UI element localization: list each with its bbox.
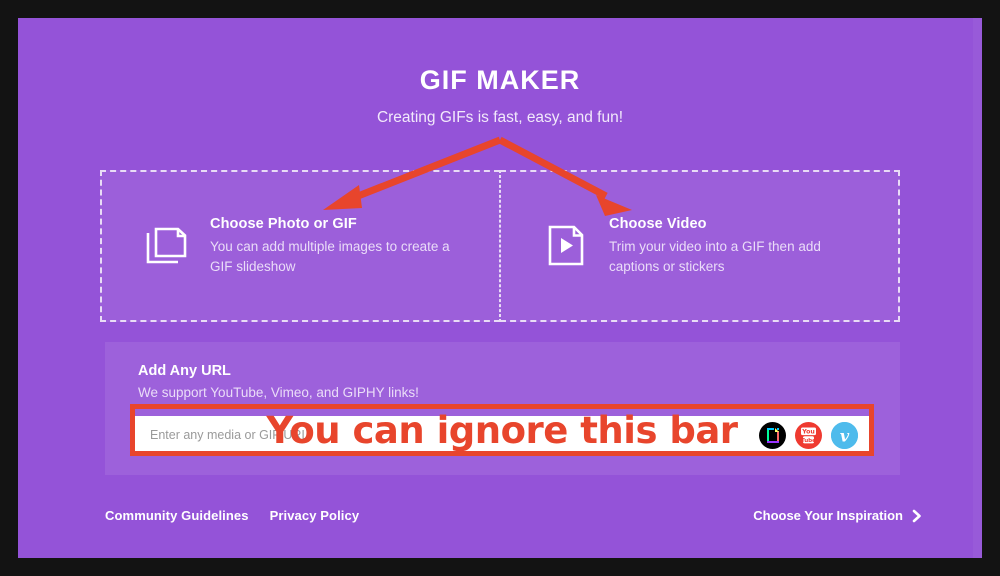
footer-links: Community Guidelines Privacy Policy [105, 508, 359, 523]
add-any-url-subtitle: We support YouTube, Vimeo, and GIPHY lin… [138, 385, 419, 400]
add-any-url-title: Add Any URL [138, 363, 231, 379]
page-subtitle: Creating GIFs is fast, easy, and fun! [18, 109, 982, 127]
choose-video-text: Choose Video Trim your video into a GIF … [609, 216, 873, 275]
community-guidelines-link[interactable]: Community Guidelines [105, 508, 249, 523]
choose-video-card[interactable]: Choose Video Trim your video into a GIF … [500, 170, 900, 322]
page-footer: Community Guidelines Privacy Policy Choo… [18, 502, 982, 542]
page-title: GIF MAKER [18, 66, 982, 96]
stacked-photos-icon [144, 224, 192, 268]
page-header: GIF MAKER Creating GIFs is fast, easy, a… [18, 66, 982, 127]
choose-your-inspiration-label: Choose Your Inspiration [753, 508, 903, 523]
screenshot-root: GIF MAKER Creating GIFs is fast, easy, a… [0, 0, 1000, 576]
choose-photo-text: Choose Photo or GIF You can add multiple… [210, 216, 474, 275]
privacy-policy-link[interactable]: Privacy Policy [270, 508, 360, 523]
choose-your-inspiration-button[interactable]: Choose Your Inspiration [753, 508, 922, 523]
choose-video-title: Choose Video [609, 216, 859, 232]
video-file-play-icon [543, 224, 591, 268]
chevron-right-icon [912, 509, 922, 523]
gif-maker-page: GIF MAKER Creating GIFs is fast, easy, a… [18, 18, 982, 558]
choose-video-description: Trim your video into a GIF then add capt… [609, 237, 859, 275]
choose-photo-title: Choose Photo or GIF [210, 216, 460, 232]
choose-photo-description: You can add multiple images to create a … [210, 237, 460, 275]
ignore-bar-annotation-text: You can ignore this bar [130, 404, 874, 456]
choose-photo-or-gif-card[interactable]: Choose Photo or GIF You can add multiple… [100, 170, 500, 322]
choose-source-area: Choose Photo or GIF You can add multiple… [100, 170, 900, 322]
